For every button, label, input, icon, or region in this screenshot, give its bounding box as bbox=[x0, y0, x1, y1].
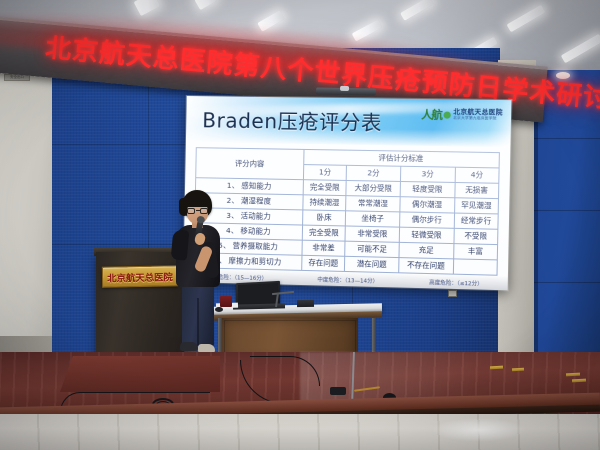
logo-dot-icon bbox=[444, 112, 451, 119]
recessed-ceiling-light bbox=[556, 72, 570, 79]
row-value: 持续潮湿 bbox=[303, 195, 346, 211]
av-adapter-box bbox=[297, 300, 314, 307]
row-value: 轻度受限 bbox=[400, 181, 455, 197]
row-value: 非常受限 bbox=[345, 226, 399, 242]
braden-scale-table: 评分内容 评估计分标准 1分 2分 3分 4分 1、感知能力 bbox=[193, 147, 499, 276]
wall-panel-seam bbox=[534, 138, 600, 139]
header-item: 评分内容 bbox=[196, 148, 304, 180]
slide-title: Braden压疮评分表 bbox=[202, 104, 382, 136]
row-value: 不受限 bbox=[454, 228, 498, 244]
row-label: 移动能力 bbox=[240, 226, 270, 236]
wall-panel-seam bbox=[534, 210, 600, 211]
row-value: 潜在问题 bbox=[345, 256, 399, 272]
score-col-2: 2分 bbox=[346, 165, 400, 181]
row-value: 常常潮湿 bbox=[346, 196, 400, 212]
presenter-shoe-left bbox=[180, 342, 198, 351]
logo-mark: 人航 bbox=[421, 109, 442, 120]
row-value: 充足 bbox=[399, 242, 454, 259]
presenter-bangs bbox=[183, 196, 211, 207]
row-label: 潮湿程度 bbox=[241, 196, 271, 206]
logo-text: 北京航天总医院 北京大学第九临床医学院 bbox=[453, 110, 503, 121]
row-label: 感知能力 bbox=[241, 181, 271, 191]
wall-panel-seam bbox=[534, 282, 600, 283]
podium-plinth bbox=[60, 356, 220, 392]
podium-plaque-text: 北京航天总医院 bbox=[107, 269, 173, 284]
table-body: 1、感知能力 完全受限 大部分受限 轻度受限 无损害 2、潮湿程度 持续潮湿 常… bbox=[194, 178, 499, 276]
row-value: 大部分受限 bbox=[346, 180, 400, 196]
row-value: 坐椅子 bbox=[346, 211, 400, 227]
row-value: 经常步行 bbox=[454, 213, 498, 229]
row-label: 摩擦力和剪切力 bbox=[228, 256, 281, 266]
glasses-icon bbox=[187, 208, 208, 214]
logo-hospital-subtitle: 北京大学第九临床医学院 bbox=[453, 117, 503, 122]
projection-screen-roller bbox=[316, 87, 376, 95]
row-value: 可能不足 bbox=[345, 241, 399, 257]
floor-light-reflection bbox=[432, 418, 526, 442]
row-value: 无损害 bbox=[454, 182, 498, 198]
row-value: 卧床 bbox=[302, 210, 345, 226]
row-value: 丰富 bbox=[453, 244, 497, 260]
red-bag bbox=[220, 296, 232, 307]
row-value: 存在问题 bbox=[302, 255, 345, 271]
row-value bbox=[453, 259, 497, 275]
computer-mouse[interactable] bbox=[215, 307, 223, 312]
row-value: 偶尔步行 bbox=[400, 212, 455, 228]
conference-hall-photo: 安全出口 · 北京航天总医院第八个世界压疮预防日学术研讨会 Braden压疮评分… bbox=[0, 0, 600, 450]
hospital-logo: 人航 北京航天总医院 北京大学第九临床医学院 bbox=[421, 109, 503, 121]
score-col-1: 1分 bbox=[303, 165, 346, 181]
score-col-3: 3分 bbox=[400, 166, 455, 182]
score-col-4: 4分 bbox=[455, 167, 499, 183]
row-value: 偶尔潮湿 bbox=[400, 197, 455, 213]
row-value: 完全受限 bbox=[302, 225, 345, 241]
slide-header: Braden压疮评分表 人航 北京航天总医院 北京大学第九临床医学院 bbox=[186, 96, 511, 147]
presentation-slide: Braden压疮评分表 人航 北京航天总医院 北京大学第九临床医学院 评分内容 bbox=[183, 96, 511, 290]
row-value: 不存在问题 bbox=[399, 258, 454, 275]
row-label: 营养摄取能力 bbox=[233, 241, 279, 251]
wall-outlet[interactable] bbox=[448, 290, 457, 297]
row-number: 1、 bbox=[227, 181, 240, 190]
projection-screen: Braden压疮评分表 人航 北京航天总医院 北京大学第九临床医学院 评分内容 bbox=[183, 96, 511, 290]
row-value: 非常差 bbox=[302, 240, 345, 256]
floor-power-brick bbox=[330, 387, 346, 395]
presenter-leg-gap bbox=[197, 298, 199, 346]
row-value: 罕见潮湿 bbox=[454, 198, 498, 214]
row-label: 活动能力 bbox=[241, 211, 271, 221]
row-value: 轻微受限 bbox=[399, 227, 454, 243]
floor-tape-marker bbox=[512, 368, 524, 372]
podium-plaque: 北京航天总医院 bbox=[102, 265, 178, 288]
presenter-arm-left bbox=[171, 229, 190, 260]
slide-body: 评分内容 评估计分标准 1分 2分 3分 4分 1、感知能力 bbox=[183, 142, 510, 290]
row-value: 完全受限 bbox=[303, 180, 346, 196]
